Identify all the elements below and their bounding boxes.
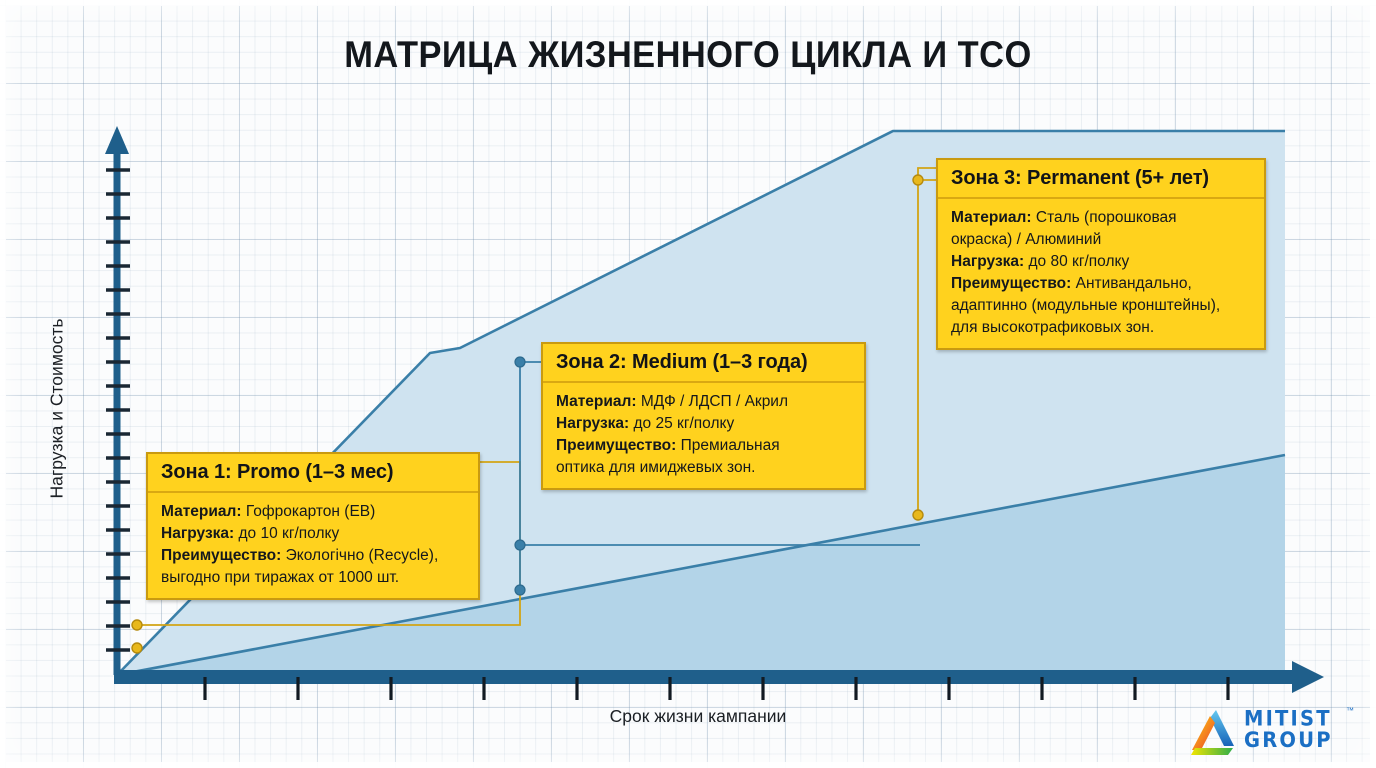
callout-zone2-row-1: Нагрузка: до 25 кг/полку [556,413,852,434]
x-axis-label: Срок жизни кампании [488,706,908,727]
callout-zone3-row-3: Преимущество: Антивандально, [951,273,1252,294]
callout-zone3-row-4-value: адаптинно (модульные кронштейны), [951,297,1220,314]
callout-zone1[interactable]: Зона 1: Promo (1–3 мес) Материал: Гофрок… [146,452,480,600]
callout-zone3-row-0-label: Материал: [951,209,1032,226]
logo-wordmark: MITIST GROUP [1244,708,1333,751]
callout-zone1-row-1-value: до 10 кг/полку [239,525,340,542]
x-axis-arrowhead [1292,661,1324,693]
y-axis-arrowhead [105,126,129,154]
callout-zone2-row-0-value: МДФ / ЛДСП / Акрил [641,393,788,410]
brand-logo[interactable]: MITIST GROUP ™ [1186,706,1361,758]
callout-zone2-row-2-value: Премиальная [681,437,780,454]
zone2-marker-bottom-dot [515,585,525,595]
callout-zone1-row-1: Нагрузка: до 10 кг/полку [161,523,466,544]
callout-zone3-row-2: Нагрузка: до 80 кг/полку [951,251,1252,272]
callout-zone3-row-2-value: до 80 кг/полку [1029,253,1130,270]
page-title: МАТРИЦА ЖИЗНЕННОГО ЦИКЛА И TCO [48,34,1328,76]
callout-zone3-heading: Зона 3: Permanent (5+ лет) [938,160,1264,199]
zone3-marker-bottom-dot [913,510,923,520]
callout-zone3-row-0-value: Сталь (порошковая [1036,209,1177,226]
callout-zone2-row-2-label: Преимущество: [556,437,676,454]
logo-line-1: MITIST [1244,708,1333,730]
callout-zone2[interactable]: Зона 2: Medium (1–3 года) Материал: МДФ … [541,342,866,490]
callout-zone2-row-3-value: оптика для имиджевых зон. [556,459,755,476]
zone2-marker-top-dot [515,357,525,367]
callout-zone2-row-2: Преимущество: Премиальная [556,435,852,456]
callout-zone1-row-2-label: Преимущество: [161,547,281,564]
zone1-marker-upper-dot [132,620,142,630]
zone2-marker-mid-dot [515,540,525,550]
callout-zone1-row-2: Преимущество: Экологічно (Recycle), [161,545,466,566]
callout-zone1-row-0: Материал: Гофрокартон (EB) [161,501,466,522]
callout-zone1-row-0-label: Материал: [161,503,242,520]
callout-zone3-row-2-label: Нагрузка: [951,253,1024,270]
callout-zone2-row-3: оптика для имиджевых зон. [556,457,852,478]
callout-zone2-body: Материал: МДФ / ЛДСП / Акрил Нагрузка: д… [543,383,864,488]
y-axis-label: Нагрузка и Стоимость [47,294,68,524]
callout-zone3-body: Материал: Сталь (порошковая окраска) / А… [938,199,1264,348]
callout-zone3-row-1: окраска) / Алюминий [951,229,1252,250]
callout-zone3-row-0: Материал: Сталь (порошковая [951,207,1252,228]
callout-zone1-row-1-label: Нагрузка: [161,525,234,542]
triangle-loop-icon [1186,706,1240,756]
logo-line-2: GROUP [1244,730,1333,752]
callout-zone3-row-1-value: окраска) / Алюминий [951,231,1101,248]
logo-trademark: ™ [1346,706,1354,715]
zone3-marker-top-dot [913,175,923,185]
callout-zone1-row-3: выгодно при тиражах от 1000 шт. [161,567,466,588]
callout-zone2-row-1-label: Нагрузка: [556,415,629,432]
zone1-marker-lower-dot [132,643,142,653]
callout-zone3[interactable]: Зона 3: Permanent (5+ лет) Материал: Ста… [936,158,1266,350]
callout-zone2-row-1-value: до 25 кг/полку [634,415,735,432]
callout-zone1-row-0-value: Гофрокартон (EB) [246,503,375,520]
infographic-canvas: МАТРИЦА ЖИЗНЕННОГО ЦИКЛА И TCO Нагрузка … [0,0,1376,768]
callout-zone1-row-2-value: Экологічно (Recycle), [286,547,439,564]
callout-zone2-heading: Зона 2: Medium (1–3 года) [543,344,864,383]
callout-zone2-row-0: Материал: МДФ / ЛДСП / Акрил [556,391,852,412]
callout-zone3-row-3-label: Преимущество: [951,275,1071,292]
callout-zone1-heading: Зона 1: Promo (1–3 мес) [148,454,478,493]
callout-zone1-row-3-value: выгодно при тиражах от 1000 шт. [161,569,399,586]
y-axis-ticks [106,170,130,650]
callout-zone3-row-4: адаптинно (модульные кронштейны), [951,295,1252,316]
callout-zone3-row-5-value: для высокотрафиковых зон. [951,319,1154,336]
callout-zone2-row-0-label: Материал: [556,393,637,410]
callout-zone3-row-3-value: Антивандально, [1076,275,1192,292]
callout-zone1-body: Материал: Гофрокартон (EB) Нагрузка: до … [148,493,478,598]
callout-zone3-row-5: для высокотрафиковых зон. [951,317,1252,338]
